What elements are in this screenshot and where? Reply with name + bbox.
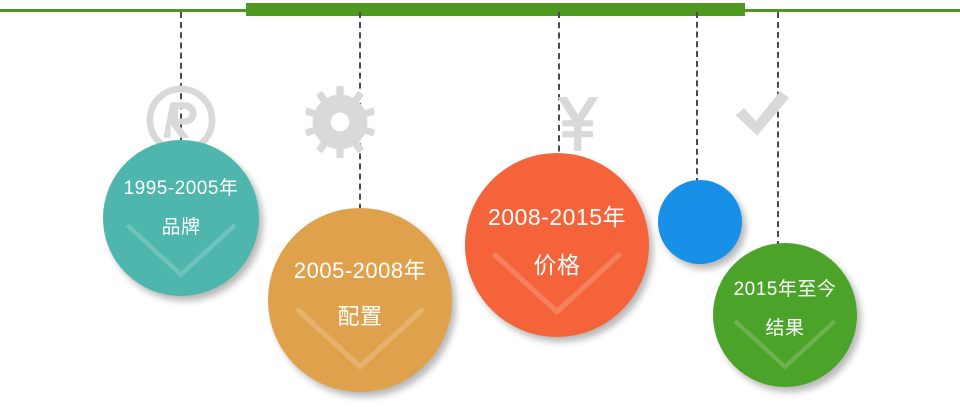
timeline-rail-highlight	[246, 3, 745, 16]
milestone-period: 2015年至今	[734, 274, 837, 301]
gear-icon	[304, 86, 376, 158]
milestone-period: 2005-2008年	[294, 253, 426, 285]
milestone-label: 配置	[337, 299, 382, 331]
connector-blue	[696, 12, 698, 184]
milestone-label: 品牌	[161, 212, 200, 239]
checkmark-icon	[732, 90, 792, 138]
milestone-price[interactable]: 2008-2015年价格	[465, 153, 649, 337]
milestone-result[interactable]: 2015年至今结果	[713, 243, 857, 387]
milestone-brand[interactable]: 1995-2005年品牌	[103, 140, 259, 296]
yen-currency-icon	[544, 89, 612, 157]
milestone-period: 2008-2015年	[488, 198, 626, 232]
milestone-period: 1995-2005年	[124, 173, 239, 200]
timeline-infographic: 1995-2005年品牌2005-2008年配置2008-2015年价格2015…	[0, 0, 960, 414]
milestone-label: 结果	[765, 313, 804, 340]
milestone-configuration[interactable]: 2005-2008年配置	[268, 208, 452, 392]
milestone-label: 价格	[534, 246, 581, 280]
milestone-blue-node[interactable]	[658, 180, 742, 264]
